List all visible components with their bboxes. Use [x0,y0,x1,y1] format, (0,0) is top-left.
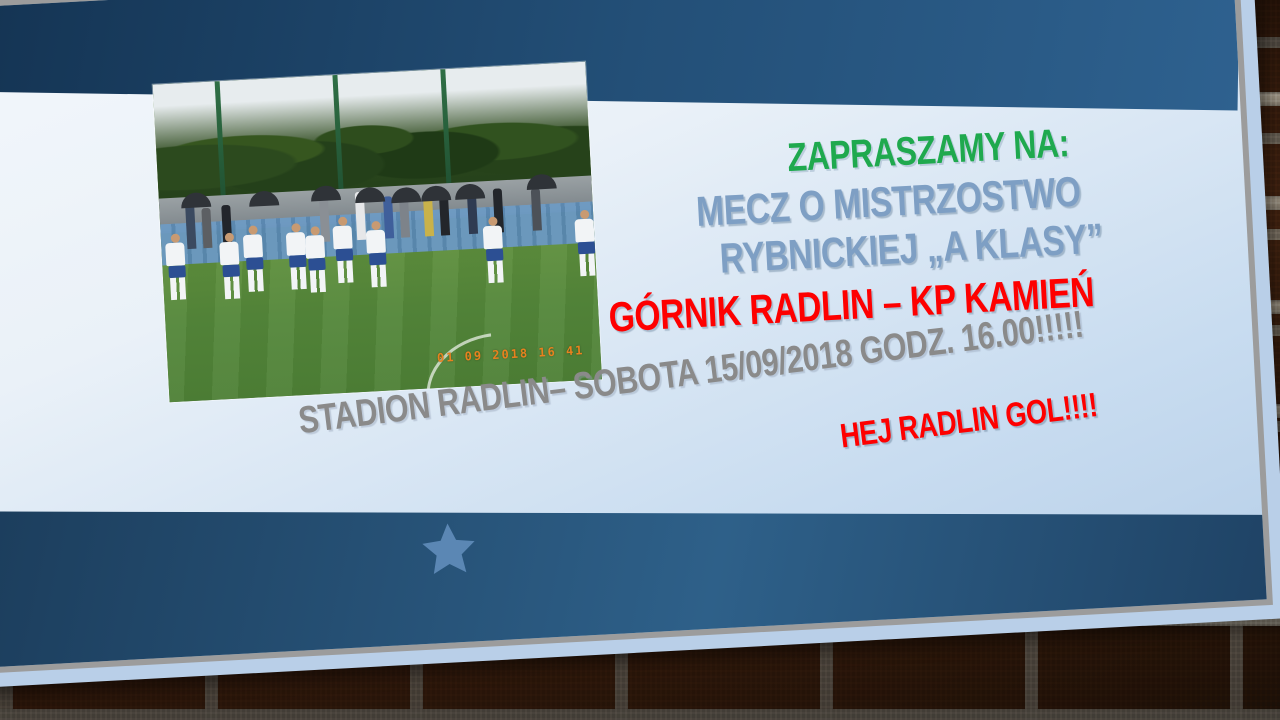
slide-stage: 01 09 2018 16 41 ZAPRASZAMY NA: MECZ O M… [0,0,1280,720]
star-icon [414,516,483,583]
chant-line: HEJ RADLIN GOL!!!! [838,378,1164,456]
slide-canvas: 01 09 2018 16 41 ZAPRASZAMY NA: MECZ O M… [0,0,1267,668]
presentation-slide: 01 09 2018 16 41 ZAPRASZAMY NA: MECZ O M… [0,0,1280,689]
match-photo: 01 09 2018 16 41 [153,62,602,403]
